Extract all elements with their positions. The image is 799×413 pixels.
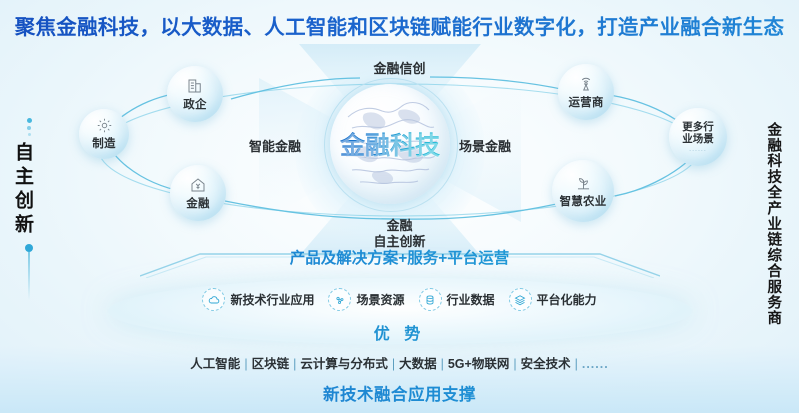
- technology-item: 5G+物联网: [448, 357, 509, 371]
- more-scenarios-ellipsis: ......: [689, 146, 707, 153]
- industry-label: 智慧农业: [560, 193, 607, 209]
- industry-bubble-zhengqi[interactable]: 政企: [167, 66, 223, 122]
- page-title: 聚焦金融科技，以大数据、人工智能和区块链赋能行业数字化，打造产业融合新生态: [0, 10, 799, 40]
- capability-row: 新技术行业应用 场景资源 行业数据: [0, 288, 799, 311]
- bank-icon: [189, 176, 207, 194]
- industry-bubble-jinrong[interactable]: 金融: [170, 165, 226, 221]
- capability-label: 行业数据: [447, 291, 495, 308]
- technology-separator: |: [293, 357, 296, 371]
- technology-separator: |: [513, 357, 516, 371]
- network-hexagon-icon: [328, 288, 351, 311]
- technology-separator: |: [244, 357, 247, 371]
- layers-icon: [509, 288, 532, 311]
- core-label-bottom-line1: 金融: [0, 218, 799, 234]
- industry-label: 运营商: [568, 94, 603, 110]
- industry-bubble-more-scenarios[interactable]: 更多行 业场景 ......: [669, 108, 727, 166]
- support-line: 新技术融合应用支撑: [0, 381, 799, 405]
- capability-label: 新技术行业应用: [230, 291, 314, 308]
- technology-item: 安全技术: [521, 357, 571, 371]
- globe-sphere: 金融科技: [330, 84, 450, 204]
- industry-label: 制造: [92, 135, 115, 151]
- capability-item-new-tech[interactable]: 新技术行业应用: [202, 288, 314, 311]
- core-keyword: 金融科技: [330, 126, 450, 162]
- core-label-top: 金融信创: [0, 58, 799, 77]
- industry-label: 金融: [186, 195, 209, 211]
- core-label-left: 智能金融: [249, 136, 301, 155]
- dot-decoration-icon: [12, 118, 46, 136]
- gear-icon: [96, 117, 113, 134]
- industry-bubble-yunyingshang[interactable]: 运营商: [558, 64, 614, 120]
- technology-item: 人工智能: [190, 357, 240, 371]
- technology-separator: |: [441, 357, 444, 371]
- core-label-right: 场景金融: [459, 136, 511, 155]
- advantage-title: 优 势: [0, 320, 799, 344]
- capability-label: 平台化能力: [537, 291, 597, 308]
- technology-item: 大数据: [399, 357, 437, 371]
- technology-ellipsis: ......: [582, 357, 609, 371]
- industry-bubble-zhihuinongye[interactable]: 智慧农业: [552, 160, 614, 222]
- industry-label: 政企: [183, 96, 206, 112]
- more-scenarios-label-line2: 业场景: [682, 133, 714, 145]
- capability-item-scenario-resource[interactable]: 场景资源: [328, 288, 404, 311]
- left-vertical-caption: 自主创新: [12, 118, 46, 300]
- globe-graphic: 金融科技: [330, 84, 450, 204]
- technology-list: 人工智能|区块链|云计算与分布式|大数据|5G+物联网|安全技术|......: [0, 353, 799, 372]
- cloud-icon: [202, 288, 225, 311]
- smart-agriculture-icon: [574, 173, 593, 192]
- technology-item: 云计算与分布式: [300, 357, 388, 371]
- capability-item-industry-data[interactable]: 行业数据: [419, 288, 495, 311]
- antenna-icon: [577, 75, 595, 93]
- capability-item-platform-capability[interactable]: 平台化能力: [509, 288, 597, 311]
- infographic-canvas: 聚焦金融科技，以大数据、人工智能和区块链赋能行业数字化，打造产业融合新生态 自主…: [0, 0, 799, 413]
- technology-separator: |: [575, 357, 578, 371]
- industry-bubble-zhizao[interactable]: 制造: [79, 109, 129, 159]
- capability-label: 场景资源: [356, 291, 404, 308]
- more-scenarios-label-line1: 更多行: [682, 121, 714, 133]
- building-icon: [186, 77, 204, 95]
- technology-item: 区块链: [252, 357, 290, 371]
- solution-line: 产品及解决方案+服务+平台运营: [0, 246, 799, 268]
- technology-separator: |: [392, 357, 395, 371]
- database-icon: [419, 288, 442, 311]
